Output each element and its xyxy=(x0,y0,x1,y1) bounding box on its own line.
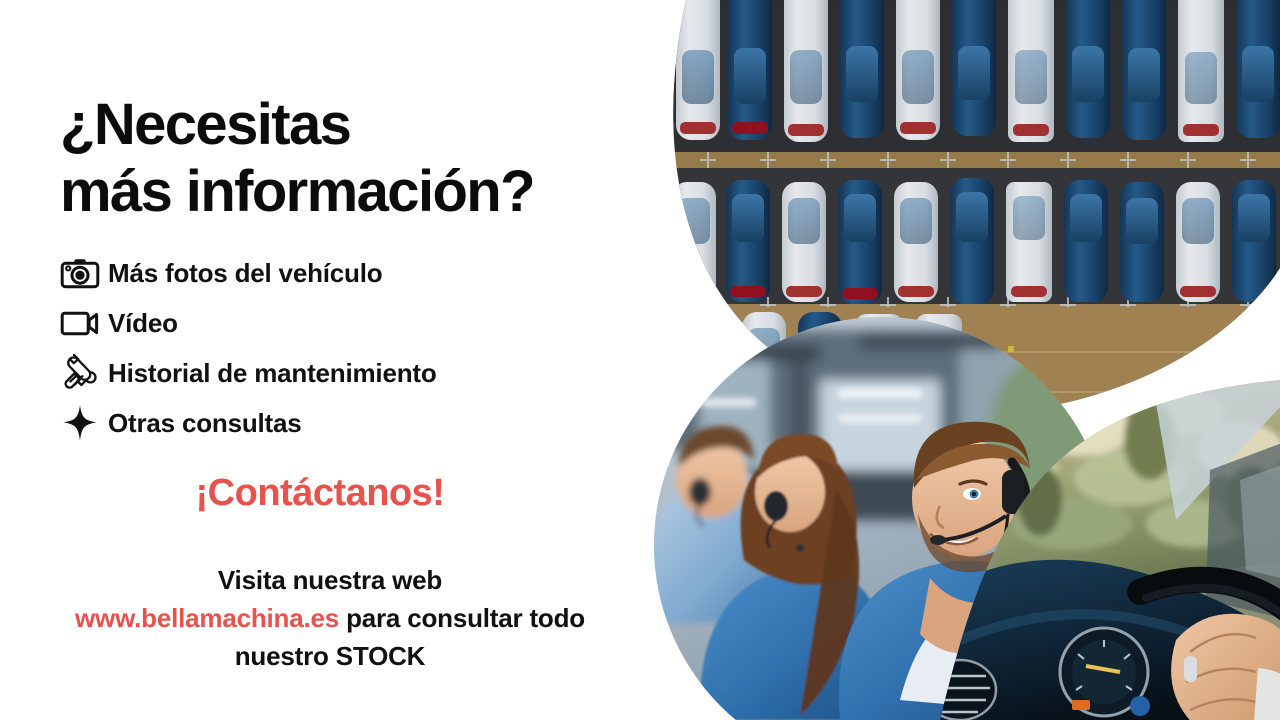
footer-line-2-rest: para consultar todo xyxy=(339,603,585,633)
footer-line-3: nuestro STOCK xyxy=(0,638,660,676)
list-item-label: Vídeo xyxy=(108,310,178,336)
list-item-label: Otras consultas xyxy=(108,410,302,436)
footer-line-2: www.bellamachina.es para consultar todo xyxy=(0,600,660,638)
list-item-label: Más fotos del vehículo xyxy=(108,260,382,286)
feature-list: Más fotos del vehículo Vídeo xyxy=(52,248,612,448)
list-item-label: Historial de mantenimiento xyxy=(108,360,437,386)
footer-line-1: Visita nuestra web xyxy=(0,562,660,600)
promo-banner: ¿Necesitas más información? Más fotos de… xyxy=(0,0,1280,720)
list-item: Historial de mantenimiento xyxy=(52,348,612,398)
list-item: Otras consultas xyxy=(52,398,612,448)
wrench-hand-icon xyxy=(52,352,108,394)
list-item: Más fotos del vehículo xyxy=(52,248,612,298)
sparkle-icon xyxy=(52,402,108,444)
page-title: ¿Necesitas más información? xyxy=(60,91,680,226)
camera-icon xyxy=(52,252,108,294)
website-url[interactable]: www.bellamachina.es xyxy=(75,603,339,633)
aerial-car-lot-photo xyxy=(640,0,1280,440)
contact-cta-text: ¡Contáctanos! xyxy=(0,472,640,515)
footer-text: Visita nuestra web www.bellamachina.es p… xyxy=(0,562,660,676)
video-camera-icon xyxy=(52,302,108,344)
call-center-agents-photo xyxy=(644,315,1130,720)
list-item: Vídeo xyxy=(52,298,612,348)
driver-steering-wheel-photo xyxy=(924,366,1280,720)
hand-on-wheel xyxy=(1171,614,1280,720)
